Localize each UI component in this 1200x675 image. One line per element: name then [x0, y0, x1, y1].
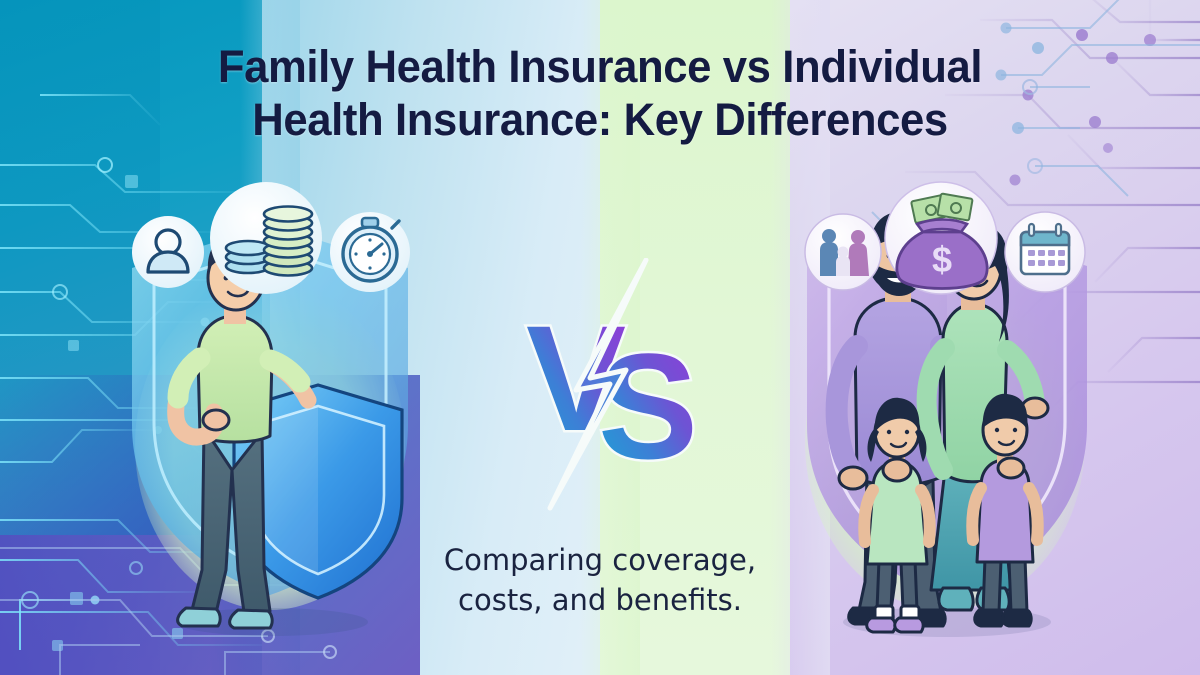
coins-icon	[210, 182, 322, 294]
family-panel: $	[795, 170, 1125, 670]
title-line-2: Health Insurance: Key Differences	[18, 93, 1182, 146]
money-bag-symbol: $	[932, 239, 952, 280]
individual-icon-row	[120, 180, 450, 300]
calendar-icon	[1005, 212, 1085, 292]
stopwatch-icon	[330, 212, 410, 292]
user-icon	[132, 216, 204, 288]
infographic-canvas: Family Health Insurance vs Individual He…	[0, 0, 1200, 675]
subtitle-line-2: costs, and benefits.	[390, 580, 810, 620]
subtitle-line-1: Comparing coverage,	[390, 540, 810, 580]
title-line-1: Family Health Insurance vs Individual	[18, 40, 1182, 93]
family-icon	[805, 214, 881, 290]
family-icon-row: $	[795, 180, 1125, 300]
versus-letter-s: S	[598, 322, 698, 490]
page-title: Family Health Insurance vs Individual He…	[0, 40, 1200, 146]
versus-badge: V S	[498, 258, 698, 513]
money-bag-icon: $	[885, 182, 997, 294]
subtitle: Comparing coverage, costs, and benefits.	[390, 540, 810, 620]
